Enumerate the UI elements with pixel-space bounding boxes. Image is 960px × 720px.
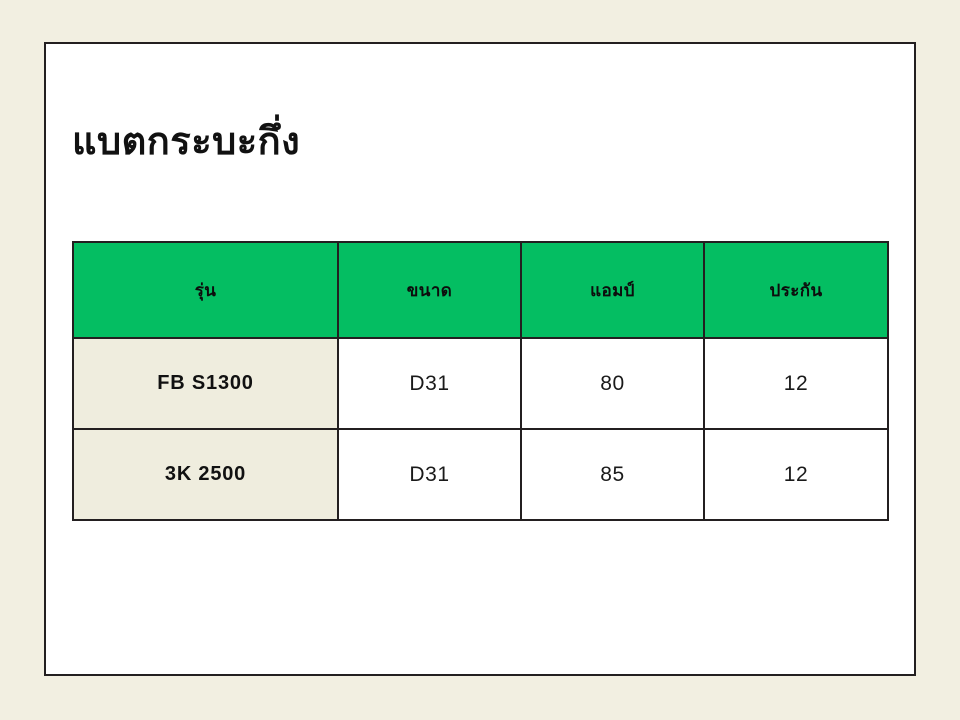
table-row: FB S1300 D31 80 12 xyxy=(73,338,888,429)
cell-amp: 80 xyxy=(521,338,704,429)
table-body: FB S1300 D31 80 12 3K 2500 D31 85 12 xyxy=(73,338,888,520)
page-title: แบตกระบะกึ่ง xyxy=(72,122,300,164)
cell-warranty: 12 xyxy=(704,429,888,520)
cell-amp: 85 xyxy=(521,429,704,520)
table-header: รุ่น ขนาด แอมป์ ประกัน xyxy=(73,242,888,338)
column-header-model: รุ่น xyxy=(73,242,338,338)
column-header-warranty: ประกัน xyxy=(704,242,888,338)
cell-model: FB S1300 xyxy=(73,338,338,429)
column-header-size: ขนาด xyxy=(338,242,521,338)
cell-model: 3K 2500 xyxy=(73,429,338,520)
table-row: 3K 2500 D31 85 12 xyxy=(73,429,888,520)
battery-spec-table: รุ่น ขนาด แอมป์ ประกัน FB S1300 D31 80 1… xyxy=(72,241,889,521)
column-header-amp: แอมป์ xyxy=(521,242,704,338)
cell-warranty: 12 xyxy=(704,338,888,429)
cell-size: D31 xyxy=(338,429,521,520)
table-header-row: รุ่น ขนาด แอมป์ ประกัน xyxy=(73,242,888,338)
slide-card: แบตกระบะกึ่ง รุ่น ขนาด แอมป์ ประกัน FB S… xyxy=(44,42,916,676)
cell-size: D31 xyxy=(338,338,521,429)
